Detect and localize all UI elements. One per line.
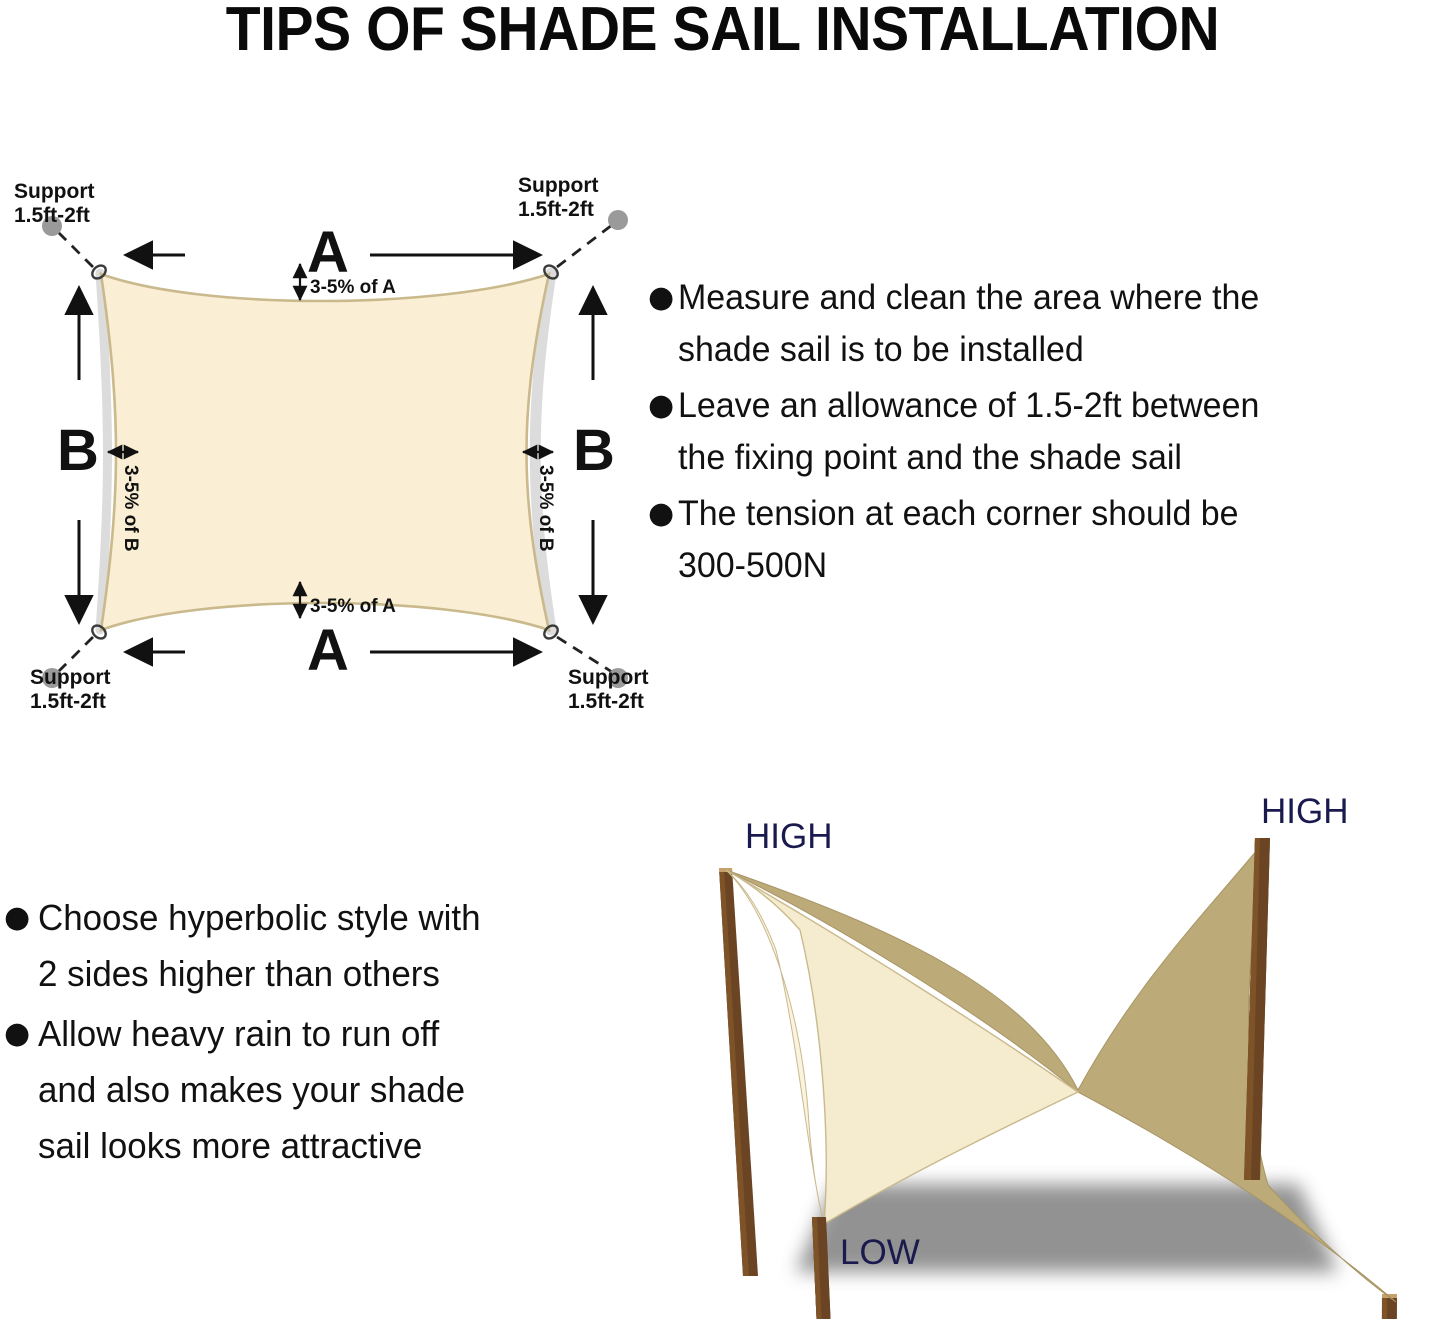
hyperbolic-sail-illustration: HIGH HIGH LOW LOW xyxy=(648,780,1445,1319)
curve-label-top: 3-5% of A xyxy=(310,277,396,298)
rectangle-sail-diagram: Support 1.5ft-2ft Support 1.5ft-2ft Supp… xyxy=(0,160,660,730)
bullet-icon: ● xyxy=(4,890,38,946)
support-label-bottom-right-line2: 1.5ft-2ft xyxy=(568,690,644,713)
post-high-left xyxy=(719,868,758,1276)
support-label-bottom-right-line1: Support xyxy=(568,666,648,689)
label-low-left: LOW xyxy=(840,1233,920,1272)
sail-shape xyxy=(101,274,549,630)
support-label-top-right-line2: 1.5ft-2ft xyxy=(518,198,594,221)
list-item: ● Leave an allowance of 1.5-2ft between … xyxy=(648,380,1445,484)
tip-line: The tension at each corner should be xyxy=(678,494,1239,533)
tip-text-2: Leave an allowance of 1.5-2ft between th… xyxy=(678,380,1425,484)
bullet-icon: ● xyxy=(648,488,678,540)
bullet-icon: ● xyxy=(4,1006,38,1062)
dimension-label-a-top: A xyxy=(307,220,349,285)
bullet-icon: ● xyxy=(648,380,678,432)
support-label-top-left-line1: Support xyxy=(14,180,94,203)
list-item: ● Choose hyperbolic style with 2 sides h… xyxy=(4,890,624,1002)
list-item: ● The tension at each corner should be 3… xyxy=(648,488,1445,592)
style-tips-list: ● Choose hyperbolic style with 2 sides h… xyxy=(4,890,624,1178)
tip-line: 300-500N xyxy=(678,546,827,585)
tip-text-1: Measure and clean the area where the sha… xyxy=(678,272,1425,376)
tip-text-3: The tension at each corner should be 300… xyxy=(678,488,1425,592)
support-label-bottom-left-line2: 1.5ft-2ft xyxy=(30,690,106,713)
bullet-icon: ● xyxy=(648,272,678,324)
dimension-label-b-right: B xyxy=(573,418,615,483)
support-label-top-right-line1: Support xyxy=(518,174,598,197)
installation-tips-list: ● Measure and clean the area where the s… xyxy=(648,272,1445,596)
list-item: ● Allow heavy rain to run off and also m… xyxy=(4,1006,624,1174)
curve-label-left: 3-5% of B xyxy=(120,465,141,552)
label-high-left: HIGH xyxy=(745,817,833,856)
label-high-right: HIGH xyxy=(1261,792,1349,831)
tip-line: and also makes your shade xyxy=(38,1069,465,1110)
infographic-page: TIPS OF SHADE SAIL INSTALLATION xyxy=(0,0,1445,1319)
dimension-label-b-left: B xyxy=(57,418,99,483)
dimension-label-a-bottom: A xyxy=(307,618,349,683)
tip-line: shade sail is to be installed xyxy=(678,330,1084,369)
tip-line: Leave an allowance of 1.5-2ft between xyxy=(678,386,1259,425)
style-tip-text-1: Choose hyperbolic style with 2 sides hig… xyxy=(38,890,606,1002)
curve-label-right: 3-5% of B xyxy=(535,465,556,552)
curve-label-bottom: 3-5% of A xyxy=(310,596,396,617)
post-low-right xyxy=(1381,1294,1397,1319)
page-title: TIPS OF SHADE SAIL INSTALLATION xyxy=(58,0,1387,65)
support-label-top-left-line2: 1.5ft-2ft xyxy=(14,204,90,227)
list-item: ● Measure and clean the area where the s… xyxy=(648,272,1445,376)
tip-line: Allow heavy rain to run off xyxy=(38,1013,439,1054)
support-label-bottom-left-line1: Support xyxy=(30,666,110,689)
tip-line: sail looks more attractive xyxy=(38,1125,422,1166)
tip-line: the fixing point and the shade sail xyxy=(678,438,1182,477)
tip-line: Measure and clean the area where the xyxy=(678,278,1259,317)
style-tip-text-2: Allow heavy rain to run off and also mak… xyxy=(38,1006,606,1174)
tip-line: 2 sides higher than others xyxy=(38,953,440,994)
tip-line: Choose hyperbolic style with xyxy=(38,897,481,938)
support-dot-top-right xyxy=(608,210,628,230)
